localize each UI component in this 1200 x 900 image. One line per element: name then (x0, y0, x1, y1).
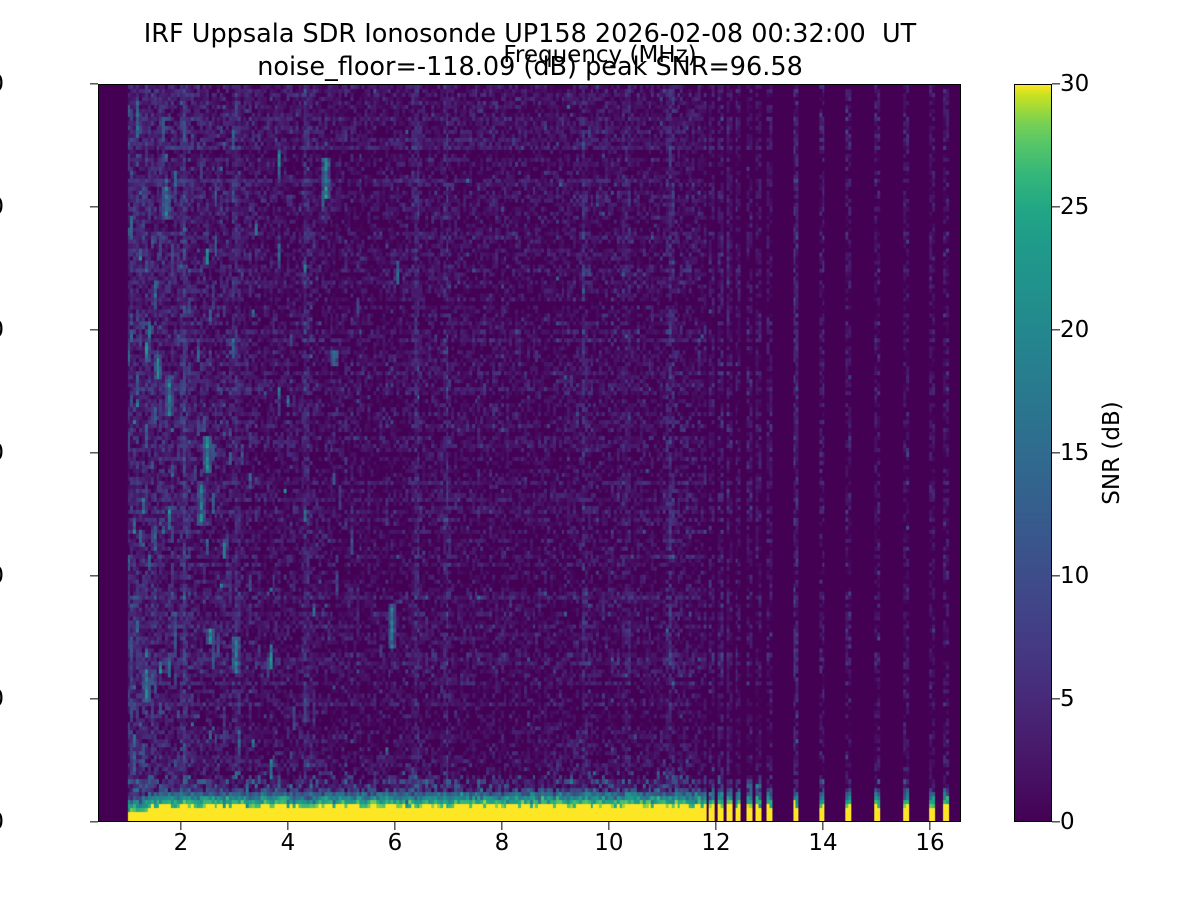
x-tick-mark (180, 822, 181, 830)
y-tick-mark (90, 452, 98, 453)
colorbar-tick-mark (1052, 575, 1060, 576)
colorbar-tick-mark (1052, 821, 1060, 822)
x-tick-mark (287, 822, 288, 830)
x-tick-label: 8 (495, 830, 510, 856)
x-tick-label: 4 (281, 830, 296, 856)
colorbar (1014, 84, 1052, 822)
x-tick-label: 6 (388, 830, 403, 856)
ionogram-plot-area (98, 84, 961, 822)
x-tick-mark (394, 822, 395, 830)
y-tick-label: 200 (0, 563, 4, 589)
x-axis: 246810121416 (98, 822, 961, 892)
x-tick-label: 14 (808, 830, 837, 856)
x-tick-label: 2 (174, 830, 189, 856)
y-tick-label: 400 (0, 317, 4, 343)
y-tick-mark (90, 821, 98, 822)
colorbar-tick-label: 0 (1060, 809, 1075, 835)
colorbar-tick-mark (1052, 698, 1060, 699)
colorbar-tick-label: 10 (1060, 563, 1089, 589)
y-tick-label: 300 (0, 440, 4, 466)
colorbar-tick-label: 20 (1060, 317, 1089, 343)
y-tick-mark (90, 329, 98, 330)
y-tick-label: 600 (0, 71, 4, 97)
y-tick-mark (90, 575, 98, 576)
x-tick-mark (822, 822, 823, 830)
x-tick-mark (608, 822, 609, 830)
colorbar-tick-label: 25 (1060, 194, 1089, 220)
x-tick-label: 12 (701, 830, 730, 856)
colorbar-tick-mark (1052, 452, 1060, 453)
colorbar-tick-mark (1052, 329, 1060, 330)
colorbar-label: SNR (dB) (1099, 401, 1125, 504)
x-tick-mark (501, 822, 502, 830)
colorbar-tick-mark (1052, 206, 1060, 207)
x-tick-mark (715, 822, 716, 830)
x-tick-label: 16 (915, 830, 944, 856)
x-tick-label: 10 (594, 830, 623, 856)
ionogram-figure: IRF Uppsala SDR Ionosonde UP158 2026-02-… (0, 0, 1200, 900)
y-tick-mark (90, 698, 98, 699)
x-axis-label: Frequency (MHz) (503, 42, 696, 68)
colorbar-tick-mark (1052, 83, 1060, 84)
y-tick-label: 0 (0, 809, 4, 835)
y-tick-mark (90, 206, 98, 207)
y-tick-label: 100 (0, 686, 4, 712)
ionogram-heatmap (99, 85, 960, 821)
colorbar-tick-label: 5 (1060, 686, 1075, 712)
y-tick-label: 500 (0, 194, 4, 220)
x-tick-mark (929, 822, 930, 830)
colorbar-tick-label: 30 (1060, 71, 1089, 97)
y-tick-mark (90, 83, 98, 84)
colorbar-tick-label: 15 (1060, 440, 1089, 466)
